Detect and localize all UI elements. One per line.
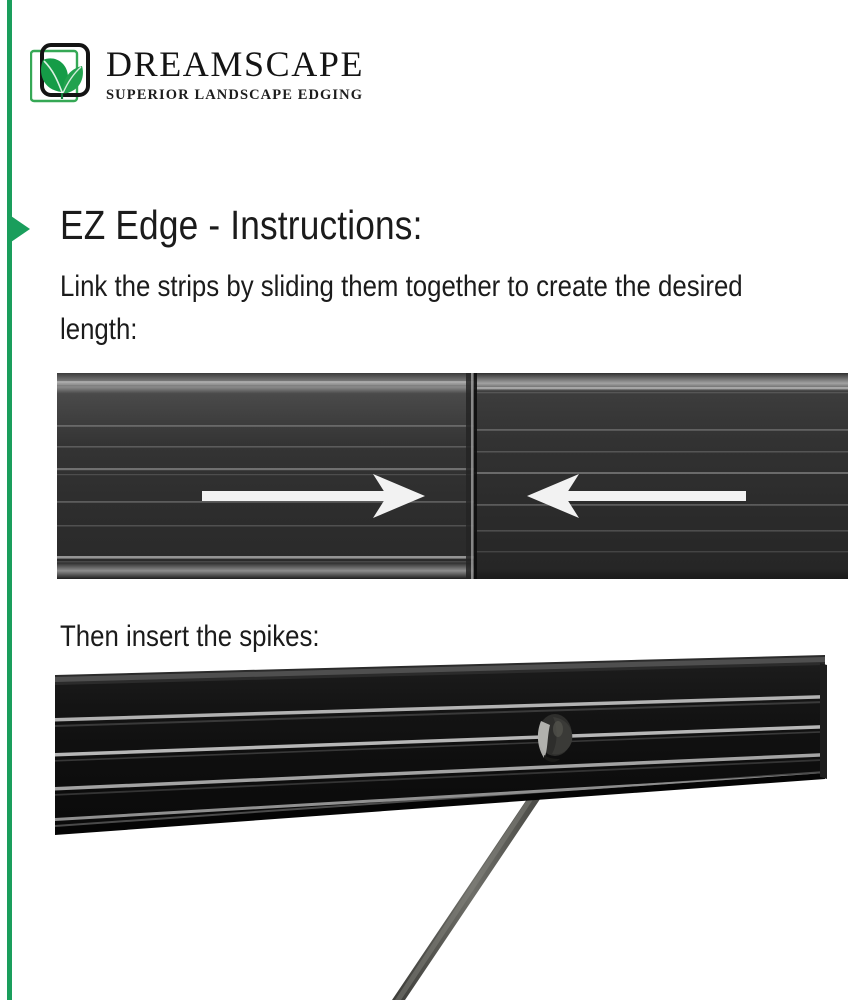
- page-title: EZ Edge - Instructions:: [60, 203, 423, 248]
- two-leaves-in-rounded-square-icon: [30, 42, 92, 106]
- brand-tagline: SUPERIOR LANDSCAPE EDGING: [106, 88, 364, 103]
- brand-wordmark: DREAMSCAPE SUPERIOR LANDSCAPE EDGING: [106, 42, 364, 103]
- linking-strips-photo: [57, 373, 848, 579]
- left-accent-rail: [7, 0, 12, 1000]
- edging-strip-body: [55, 655, 827, 835]
- step-2-instruction-text: Then insert the spikes:: [60, 617, 320, 656]
- brand-name: DREAMSCAPE: [106, 46, 364, 82]
- green-arrow-icon: [11, 216, 30, 242]
- spike-insertion-photo: [55, 655, 855, 1000]
- brand-logo: DREAMSCAPE SUPERIOR LANDSCAPE EDGING: [30, 42, 364, 106]
- instruction-sheet-page: DREAMSCAPE SUPERIOR LANDSCAPE EDGING EZ …: [0, 0, 865, 1000]
- step-1-instruction-text: Link the strips by sliding them together…: [60, 266, 817, 351]
